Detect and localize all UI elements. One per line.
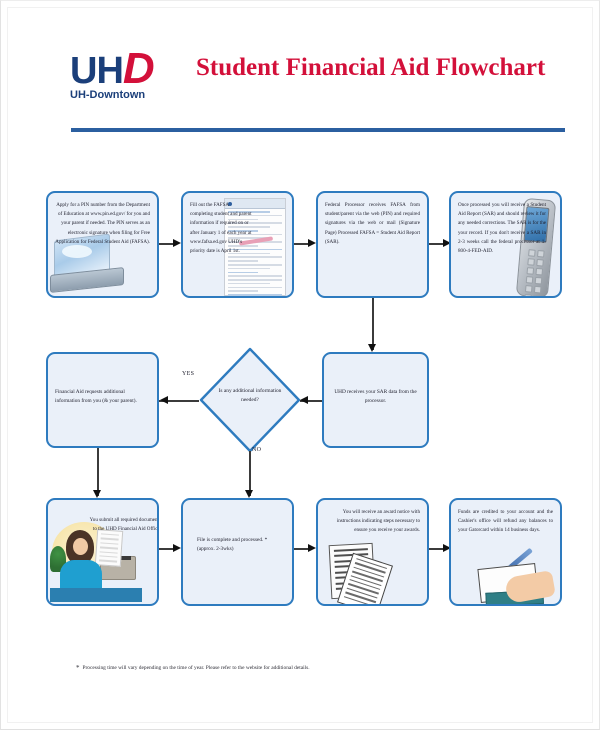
- page-canvas: UHD UH-Downtown Student Financial Aid Fl…: [0, 0, 600, 730]
- hand-icon: [504, 570, 556, 604]
- person-hair-icon: [66, 530, 94, 564]
- connector-n5-n7: [97, 448, 99, 496]
- flow-node-text: UHD receives your SAR data from the proc…: [324, 354, 427, 406]
- logo-letters: UHD: [70, 48, 166, 92]
- flow-node-federal-processor[interactable]: Federal Processor receives FAFSA from st…: [316, 191, 429, 298]
- flow-node-text: Fill out the FAFSA completing student an…: [183, 193, 259, 256]
- document-front-icon: [337, 553, 393, 606]
- logo-letters-uh: UH: [70, 50, 123, 92]
- connector-n3-n6: [372, 298, 374, 350]
- arrow-n7-n8: [173, 544, 181, 552]
- flow-node-request-additional-info[interactable]: Financial Aid requests additional inform…: [46, 352, 159, 448]
- laptop-base-icon: [50, 267, 124, 293]
- logo-letter-d: D: [123, 44, 152, 93]
- flow-node-uhd-receives-sar[interactable]: UHD receives your SAR data from the proc…: [322, 352, 429, 448]
- arrow-n1-n2: [173, 239, 181, 247]
- uhd-logo: UHD UH-Downtown: [70, 48, 166, 106]
- paper-stack-icon: [95, 529, 123, 567]
- footnote-marker: *: [76, 664, 80, 672]
- document-header: UHD UH-Downtown Student Financial Aid Fl…: [8, 8, 594, 120]
- arrow-n8-n9: [308, 544, 316, 552]
- arrow-n3-n6: [368, 344, 376, 352]
- flow-node-text: Once processed you will receive a Studen…: [451, 193, 553, 256]
- flow-decision-additional-info[interactable]: Is any additional information needed?: [198, 346, 302, 454]
- flow-node-text: Financial Aid requests additional inform…: [48, 354, 157, 406]
- footnote-text: Processing time will vary depending on t…: [83, 665, 310, 671]
- footnote: *Processing time will vary depending on …: [76, 664, 546, 672]
- flow-node-text: You submit all required documents to the…: [82, 500, 159, 534]
- checkbook-icon: [477, 563, 538, 603]
- flow-node-fill-fafsa[interactable]: Fill out the FAFSA completing student an…: [181, 191, 294, 298]
- flow-node-text: File is complete and processed. *(approx…: [183, 500, 292, 554]
- arrow-n2-n3: [308, 239, 316, 247]
- page-title: Student Financial Aid Flowchart: [196, 54, 568, 82]
- flow-node-text: Federal Processor receives FAFSA from st…: [318, 193, 427, 247]
- flow-decision-text: Is any additional information needed?: [217, 387, 284, 405]
- arrow-d1-n8: [245, 490, 253, 498]
- logo-subtitle: UH-Downtown: [70, 89, 170, 101]
- flow-node-text: Apply for a PIN number from the Departme…: [48, 193, 157, 247]
- pen-icon: [499, 548, 533, 578]
- printer-icon: [100, 556, 136, 580]
- edge-label-yes: YES: [182, 371, 194, 377]
- arrow-d1-n5: [160, 396, 168, 404]
- flowchart-sheet: UHD UH-Downtown Student Financial Aid Fl…: [7, 7, 593, 723]
- flow-node-text: You will receive an award notice with in…: [318, 500, 427, 536]
- arrow-n6-d1: [300, 396, 308, 404]
- flow-node-apply-pin[interactable]: Apply for a PIN number from the Departme…: [46, 191, 159, 298]
- flow-node-funds-credited[interactable]: Funds are credited to your account and t…: [449, 498, 562, 606]
- flow-node-award-notice[interactable]: You will receive an award notice with in…: [316, 498, 429, 606]
- flow-node-sar-received[interactable]: Once processed you will receive a Studen…: [449, 191, 562, 298]
- desk-icon: [50, 588, 142, 602]
- flow-node-text: Funds are credited to your account and t…: [451, 500, 560, 536]
- document-back-icon: [329, 543, 376, 599]
- edge-label-no: NO: [252, 447, 261, 453]
- flow-node-file-complete[interactable]: File is complete and processed. *(approx…: [181, 498, 294, 606]
- arrow-n5-n7: [93, 490, 101, 498]
- person-body-icon: [60, 560, 102, 600]
- person-face-icon: [73, 538, 88, 555]
- header-divider: [71, 128, 565, 132]
- plant-icon: [50, 546, 66, 572]
- flow-node-submit-documents[interactable]: You submit all required documents to the…: [46, 498, 159, 606]
